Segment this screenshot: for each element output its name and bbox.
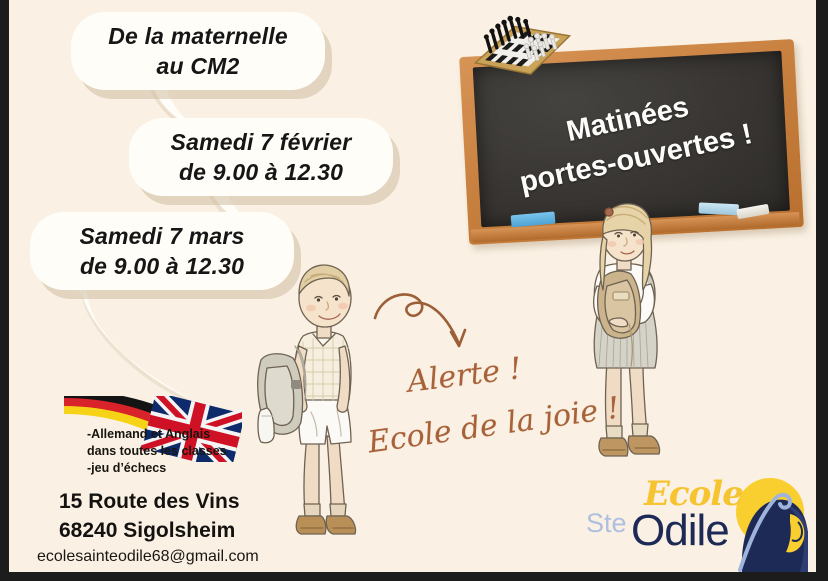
bubble-levels-line-2: au CM2 bbox=[157, 51, 240, 81]
light-blue-chalk bbox=[698, 202, 739, 215]
school-logo: Ecole Ste Odile bbox=[584, 472, 816, 572]
bubble-tail-3 bbox=[57, 280, 247, 410]
languages-line-1: -Allemand et Anglais bbox=[87, 426, 227, 443]
bubble-levels: De la maternelle au CM2 bbox=[71, 12, 325, 90]
bubble-february-line-2: de 9.00 à 12.30 bbox=[179, 157, 343, 187]
bottom-border-bar bbox=[0, 572, 828, 581]
logo-word-ste: Ste bbox=[586, 508, 627, 539]
bubble-date-march: Samedi 7 mars de 9.00 à 12.30 bbox=[30, 212, 294, 290]
bubble-date-february: Samedi 7 février de 9.00 à 12.30 bbox=[129, 118, 393, 196]
languages-badge-text: -Allemand et Anglais dans toutes les cla… bbox=[87, 426, 227, 477]
curved-arrow-icon bbox=[371, 288, 481, 358]
left-border-bar bbox=[0, 0, 9, 581]
bubble-march-line-1: Samedi 7 mars bbox=[80, 221, 245, 251]
address-street: 15 Route des Vins bbox=[59, 487, 240, 516]
poster-canvas: De la maternelle au CM2 Samedi 7 février… bbox=[9, 0, 816, 572]
script-alerte: Alerte ! bbox=[405, 351, 523, 400]
address-city: 68240 Sigolsheim bbox=[59, 516, 240, 545]
logo-word-odile: Odile bbox=[631, 506, 729, 556]
bubble-march-line-2: de 9.00 à 12.30 bbox=[80, 251, 244, 281]
chess-board-set bbox=[461, 10, 581, 88]
languages-line-2: dans toutes les classes bbox=[87, 443, 227, 460]
chalkboard-text: Matinées portes-ouvertes ! bbox=[507, 75, 755, 203]
boy-with-backpack bbox=[255, 250, 383, 544]
bubble-levels-line-1: De la maternelle bbox=[108, 21, 288, 51]
languages-line-3: -jeu d’échecs bbox=[87, 460, 227, 477]
right-border-bar bbox=[816, 0, 828, 581]
email-address[interactable]: ecolesainteodile68@gmail.com bbox=[37, 548, 259, 566]
bubble-february-line-1: Samedi 7 février bbox=[171, 127, 352, 157]
poster: De la maternelle au CM2 Samedi 7 février… bbox=[0, 0, 828, 581]
address-block: 15 Route des Vins 68240 Sigolsheim bbox=[59, 487, 240, 545]
